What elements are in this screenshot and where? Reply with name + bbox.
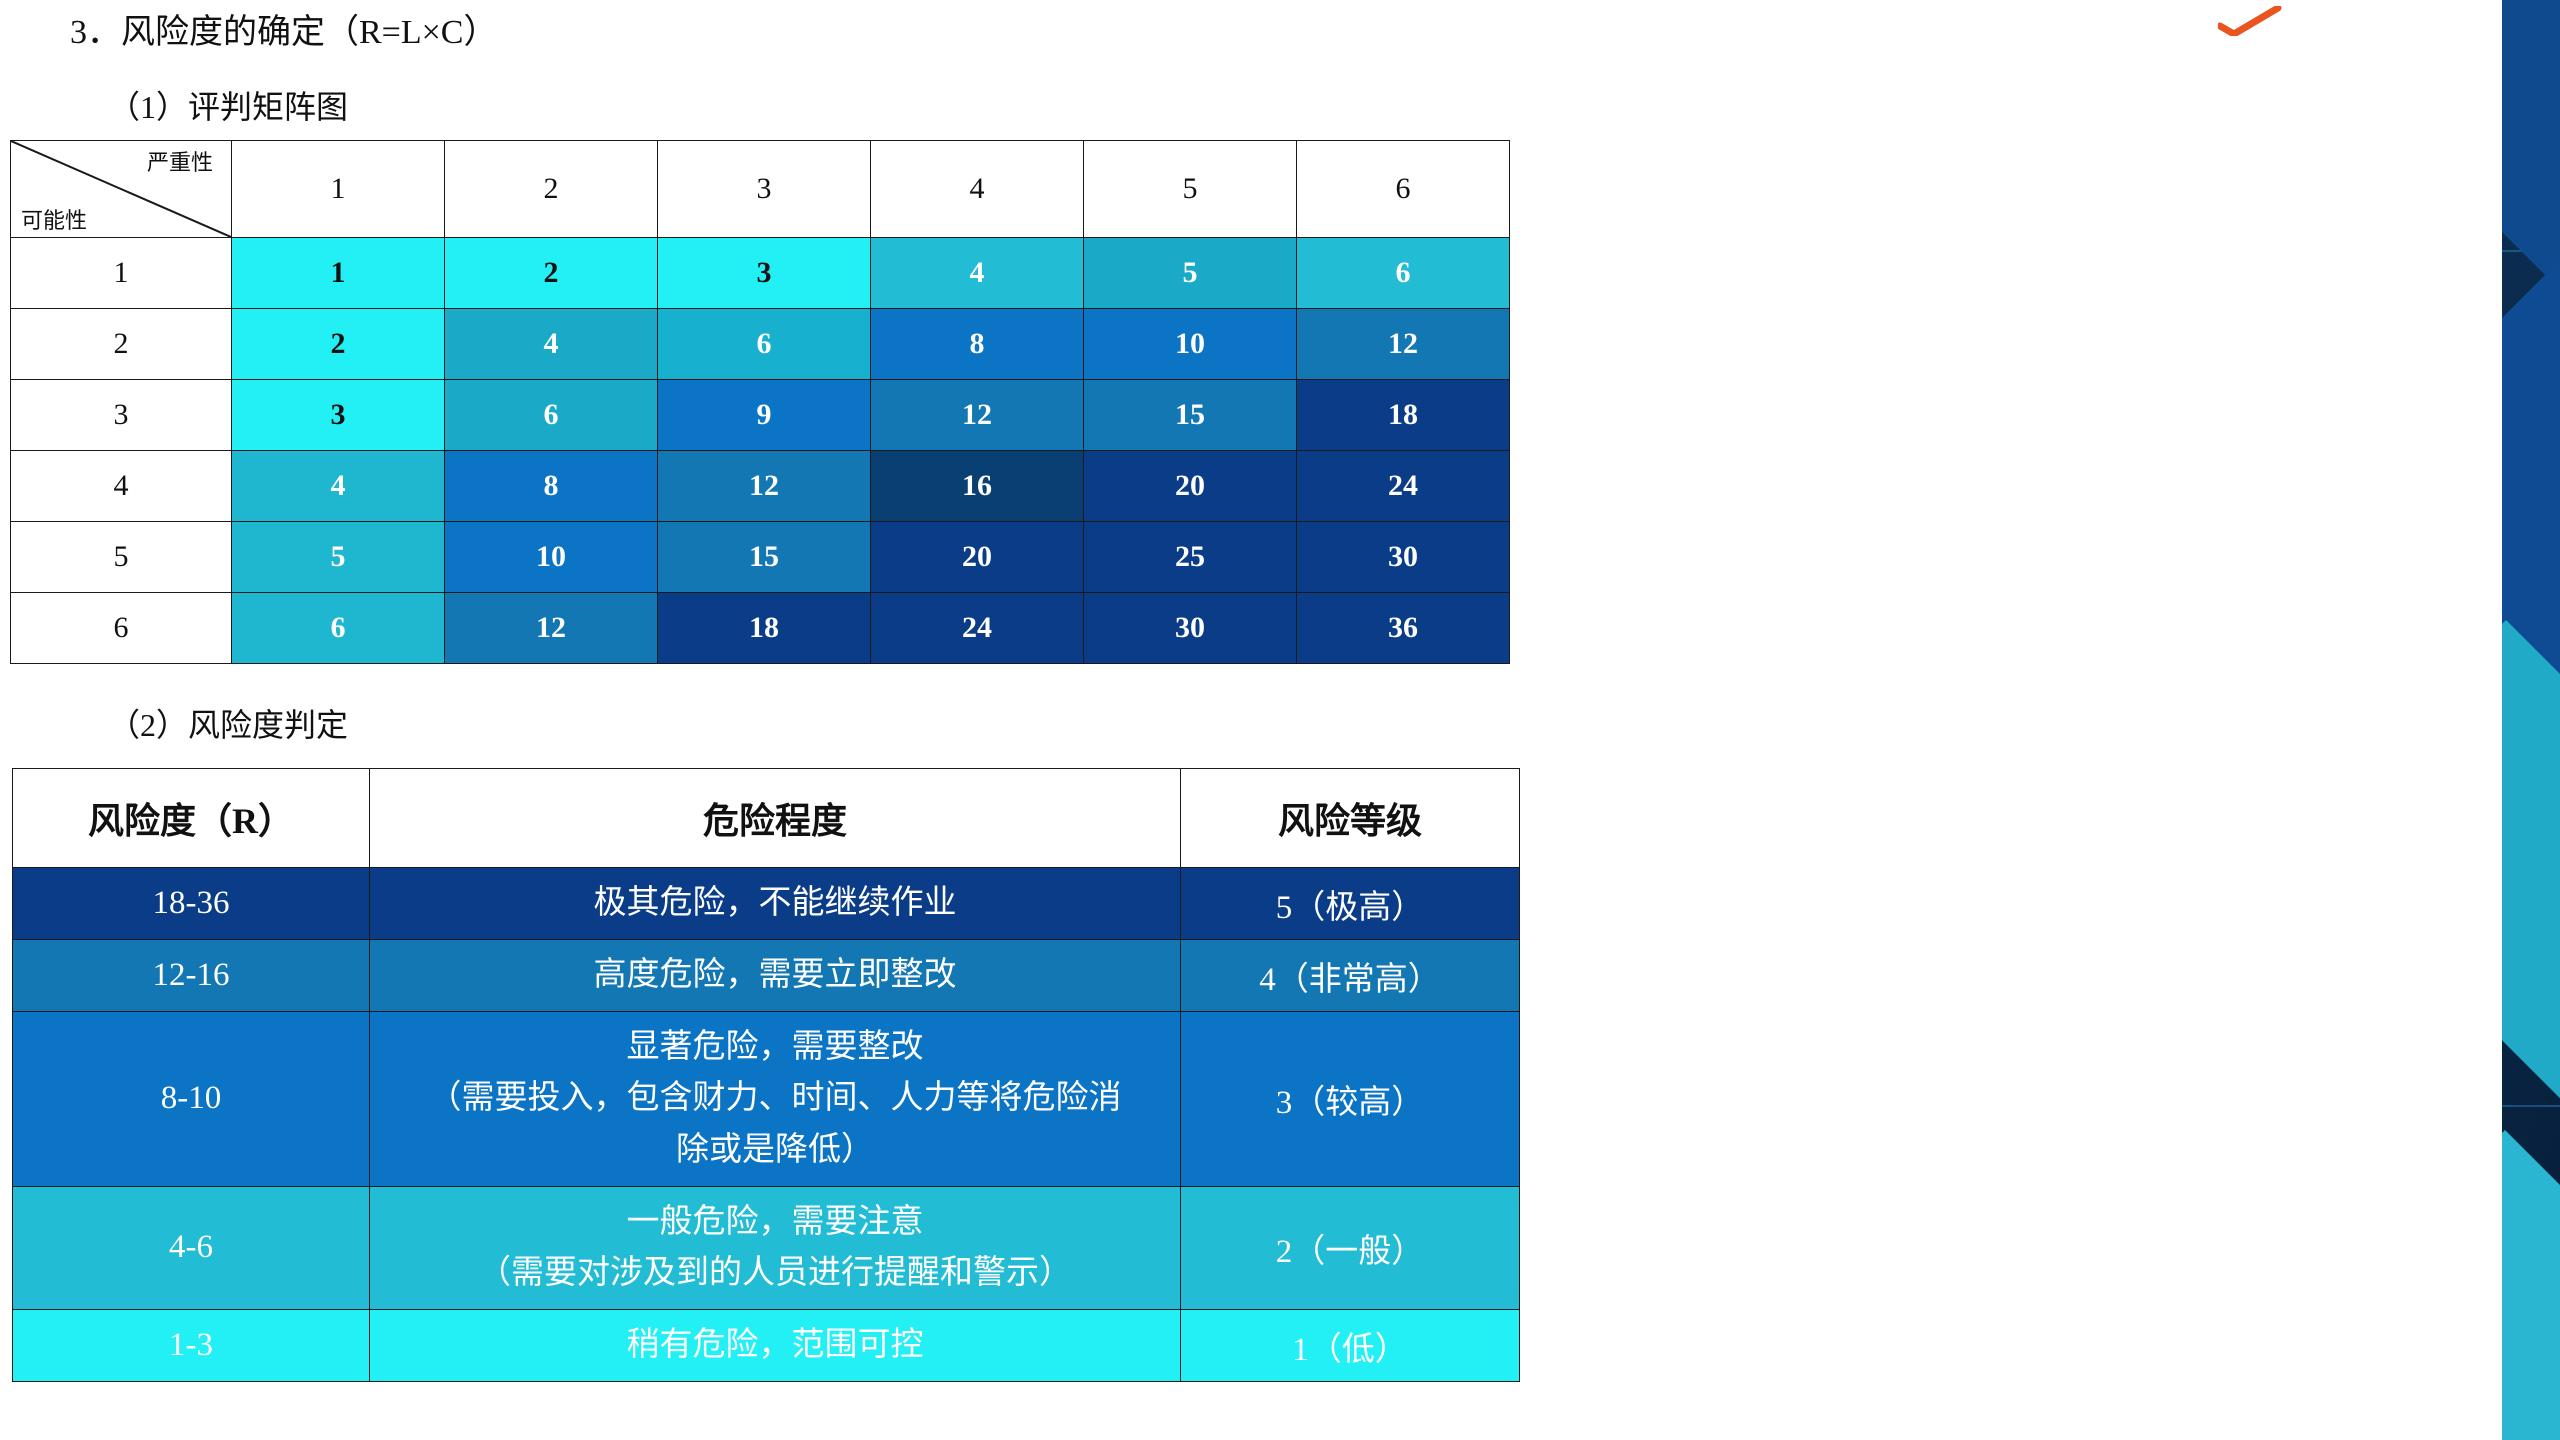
severity-label: 严重性 [147, 145, 213, 177]
matrix-body: 1123456224681012336912151844812162024551… [11, 238, 1510, 664]
matrix-cell: 6 [232, 593, 445, 664]
risk-table-row: 8-10显著危险，需要整改（需要投入，包含财力、时间、人力等将危险消除或是降低）… [13, 1012, 1520, 1186]
matrix-cell: 2 [232, 309, 445, 380]
section-title-matrix: （1）评判矩阵图 [108, 82, 348, 128]
risk-header-row: 风险度（R）危险程度风险等级 [13, 769, 1520, 868]
matrix-row: 551015202530 [11, 522, 1510, 593]
matrix-cell: 10 [445, 522, 658, 593]
matrix-cell: 16 [871, 451, 1084, 522]
risk-level-cell: 2（一般） [1181, 1186, 1520, 1309]
matrix-cell: 2 [445, 238, 658, 309]
brand-logo: Passion 佩信集团 [2100, 22, 2476, 92]
matrix-cell: 8 [871, 309, 1084, 380]
matrix-cell: 24 [1297, 451, 1510, 522]
matrix-row: 1123456 [11, 238, 1510, 309]
matrix-cell: 12 [658, 451, 871, 522]
matrix-cell: 18 [1297, 380, 1510, 451]
risk-level-cell: 5（极高） [1181, 868, 1520, 940]
risk-level-cell: 3（较高） [1181, 1012, 1520, 1186]
risk-range-cell: 4-6 [13, 1186, 370, 1309]
matrix-cell: 5 [1084, 238, 1297, 309]
matrix-cell: 36 [1297, 593, 1510, 664]
risk-matrix-table: 严重性 可能性 123456 1123456224681012336912151… [10, 140, 1510, 664]
risk-description-cell: 一般危险，需要注意（需要对涉及到的人员进行提醒和警示） [370, 1186, 1181, 1309]
matrix-row-header: 2 [11, 309, 232, 380]
risk-range-cell: 1-3 [13, 1309, 370, 1381]
matrix-corner-cell: 严重性 可能性 [11, 141, 232, 238]
matrix-cell: 25 [1084, 522, 1297, 593]
matrix-row-header: 1 [11, 238, 232, 309]
matrix-col-header: 2 [445, 141, 658, 238]
risk-description-line: 极其危险，不能继续作业 [374, 878, 1176, 929]
section-title-risk: （2）风险度判定 [108, 700, 348, 746]
slide-root: mirror_mod.mirror_object operation == "M… [0, 0, 2560, 1440]
matrix-cell: 15 [1084, 380, 1297, 451]
matrix-cell: 8 [445, 451, 658, 522]
matrix-cell: 20 [1084, 451, 1297, 522]
matrix-cell: 30 [1297, 522, 1510, 593]
matrix-col-header: 5 [1084, 141, 1297, 238]
matrix-cell: 20 [871, 522, 1084, 593]
risk-description-line: 一般危险，需要注意 [374, 1197, 1176, 1248]
risk-description-line: 高度危险，需要立即整改 [374, 950, 1176, 1001]
logo-chinese-name: 佩信集团 [2264, 20, 2476, 95]
matrix-row-header: 5 [11, 522, 232, 593]
risk-col-header: 风险等级 [1181, 769, 1520, 868]
matrix-cell: 3 [658, 238, 871, 309]
risk-table-row: 1-3稍有危险，范围可控1（低） [13, 1309, 1520, 1381]
matrix-col-header: 3 [658, 141, 871, 238]
matrix-cell: 12 [1297, 309, 1510, 380]
matrix-cell: 15 [658, 522, 871, 593]
matrix-cell: 5 [232, 522, 445, 593]
matrix-col-header: 6 [1297, 141, 1510, 238]
matrix-col-header: 4 [871, 141, 1084, 238]
matrix-cell: 4 [232, 451, 445, 522]
matrix-cell: 3 [232, 380, 445, 451]
matrix-cell: 6 [658, 309, 871, 380]
matrix-cell: 9 [658, 380, 871, 451]
risk-description-cell: 极其危险，不能继续作业 [370, 868, 1181, 940]
risk-description-line: 显著危险，需要整改 [374, 1022, 1176, 1073]
matrix-cell: 24 [871, 593, 1084, 664]
risk-description-line: （需要投入，包含财力、时间、人力等将危险消 [374, 1073, 1176, 1124]
matrix-cell: 30 [1084, 593, 1297, 664]
matrix-row: 224681012 [11, 309, 1510, 380]
matrix-cell: 12 [871, 380, 1084, 451]
risk-level-table: 风险度（R）危险程度风险等级18-36极其危险，不能继续作业5（极高）12-16… [12, 768, 1520, 1382]
matrix-cell: 4 [445, 309, 658, 380]
matrix-cell: 12 [445, 593, 658, 664]
risk-description-line: 稍有危险，范围可控 [374, 1320, 1176, 1371]
matrix-row-header: 4 [11, 451, 232, 522]
check-mark-icon [2218, 6, 2282, 36]
risk-description-cell: 稍有危险，范围可控 [370, 1309, 1181, 1381]
matrix-row-header: 3 [11, 380, 232, 451]
risk-description-line: 除或是降低） [374, 1125, 1176, 1176]
matrix-cell: 10 [1084, 309, 1297, 380]
risk-range-cell: 8-10 [13, 1012, 370, 1186]
risk-description-cell: 高度危险，需要立即整改 [370, 940, 1181, 1012]
matrix-cell: 18 [658, 593, 871, 664]
matrix-header-row: 严重性 可能性 123456 [11, 141, 1510, 238]
risk-level-cell: 1（低） [1181, 1309, 1520, 1381]
logo-wordmark: Passion [2100, 31, 2252, 84]
risk-description-cell: 显著危险，需要整改（需要投入，包含财力、时间、人力等将危险消除或是降低） [370, 1012, 1181, 1186]
risk-range-cell: 18-36 [13, 868, 370, 940]
risk-table-row: 18-36极其危险，不能继续作业5（极高） [13, 868, 1520, 940]
risk-description-line: （需要对涉及到的人员进行提醒和警示） [374, 1248, 1176, 1299]
risk-col-header: 风险度（R） [13, 769, 370, 868]
likelihood-label: 可能性 [21, 203, 87, 235]
matrix-cell: 6 [1297, 238, 1510, 309]
risk-table-row: 4-6一般危险，需要注意（需要对涉及到的人员进行提醒和警示）2（一般） [13, 1186, 1520, 1309]
matrix-col-header: 1 [232, 141, 445, 238]
risk-level-cell: 4（非常高） [1181, 940, 1520, 1012]
risk-table-row: 12-16高度危险，需要立即整改4（非常高） [13, 940, 1520, 1012]
risk-range-cell: 12-16 [13, 940, 370, 1012]
risk-col-header: 危险程度 [370, 769, 1181, 868]
matrix-cell: 4 [871, 238, 1084, 309]
matrix-cell: 1 [232, 238, 445, 309]
matrix-cell: 6 [445, 380, 658, 451]
risk-table-body: 风险度（R）危险程度风险等级18-36极其危险，不能继续作业5（极高）12-16… [13, 769, 1520, 1382]
matrix-row-header: 6 [11, 593, 232, 664]
page-title: 3．风险度的确定（R=L×C） [70, 4, 497, 53]
matrix-row: 661218243036 [11, 593, 1510, 664]
matrix-row: 44812162024 [11, 451, 1510, 522]
matrix-row: 3369121518 [11, 380, 1510, 451]
